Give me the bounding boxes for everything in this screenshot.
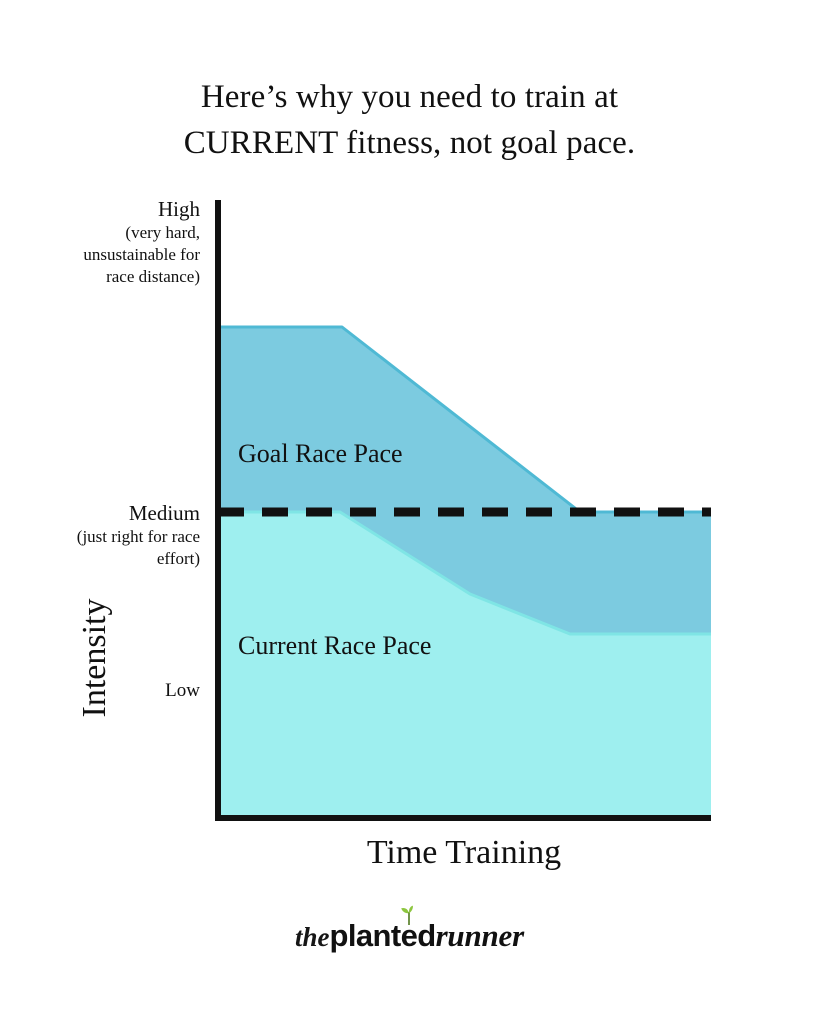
y-axis-tick-high-label: High — [0, 196, 200, 222]
y-axis-tick-high-sub-1: (very hard, — [0, 222, 200, 244]
y-axis-tick-high-sub-2: unsustainable for — [0, 244, 200, 266]
y-axis-tick-medium-sub-1: (just right for race — [0, 526, 200, 548]
brand-logo: theplantedrunner — [0, 918, 819, 954]
y-axis-tick-high-sub-3: race distance) — [0, 266, 200, 288]
x-axis-title: Time Training — [217, 831, 711, 875]
series-label-current-race-pace: Current Race Pace — [238, 631, 431, 661]
y-axis-title: Intensity — [77, 558, 113, 758]
y-axis-tick-high: High (very hard, unsustainable for race … — [0, 196, 200, 288]
y-axis-tick-medium-label: Medium — [0, 500, 200, 526]
brand-logo-the: the — [295, 922, 330, 952]
intensity-vs-time-chart: High (very hard, unsustainable for race … — [0, 0, 819, 1024]
brand-logo-runner: runner — [436, 918, 524, 953]
series-label-goal-race-pace: Goal Race Pace — [238, 439, 403, 469]
sprout-icon — [396, 905, 422, 925]
brand-logo-inner: theplantedrunner — [295, 918, 524, 954]
